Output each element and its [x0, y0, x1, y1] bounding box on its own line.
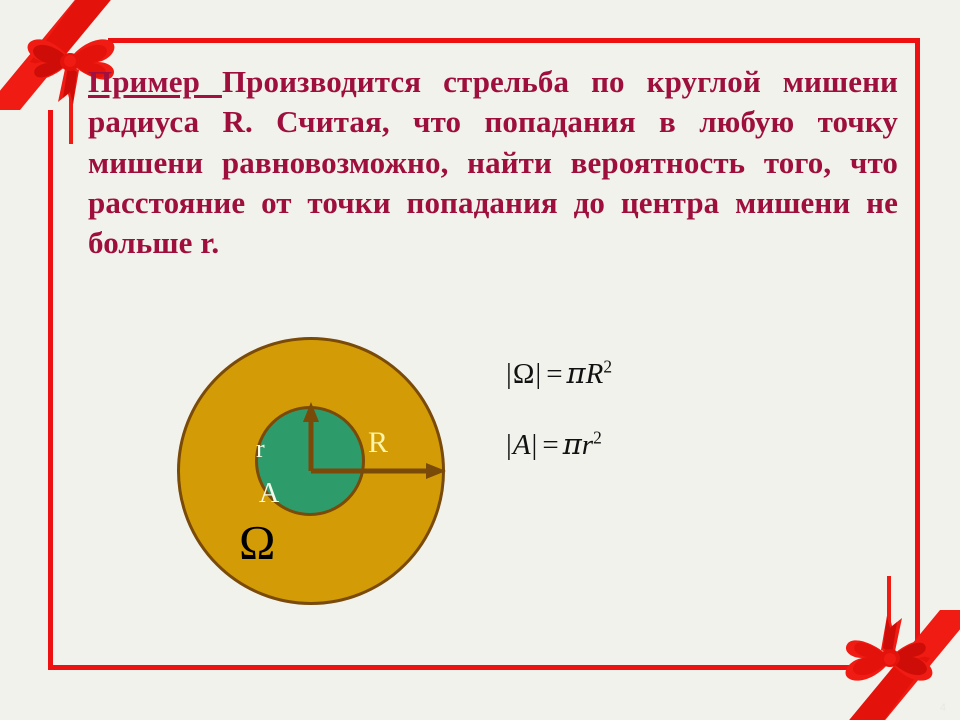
frame-border-left [48, 110, 53, 670]
frame-border-bottom [48, 665, 878, 670]
formula-exponent: 2 [593, 427, 602, 447]
equals-sign: = [546, 358, 562, 390]
formula-a-area: |A|=πr2 [505, 427, 612, 462]
frame-border-right [915, 38, 920, 670]
equals-sign: = [542, 429, 558, 461]
formula-block: |Ω|=πR2 |A|=πr2 [505, 356, 612, 498]
formula-exponent: 2 [603, 356, 612, 376]
slide-canvas: Пример Производится стрельба по круглой … [0, 0, 960, 720]
label-outer-region: Ω [239, 518, 275, 567]
frame-border-top [108, 38, 920, 43]
abs-bar-left: | [505, 358, 513, 390]
ribbon-bow-icon [816, 576, 960, 720]
problem-statement: Пример Производится стрельба по круглой … [88, 62, 898, 263]
abs-bar-right: | [531, 429, 539, 461]
pi-symbol: π [567, 356, 586, 390]
formula-a-symbol: A [513, 429, 531, 461]
abs-bar-left: | [505, 429, 513, 461]
formula-variable: R [586, 358, 604, 390]
page-number: 4 [940, 702, 946, 714]
formula-omega-area: |Ω|=πR2 [505, 356, 612, 391]
formula-omega-symbol: Ω [513, 358, 535, 390]
label-inner-region: A [259, 480, 279, 508]
problem-label: Пример [88, 64, 222, 99]
radius-arrows [168, 328, 458, 618]
label-outer-radius: R [368, 428, 388, 458]
pi-symbol: π [563, 427, 582, 461]
formula-variable: r [582, 429, 593, 461]
label-inner-radius: r [256, 436, 265, 462]
target-diagram: r R A Ω [168, 328, 458, 618]
abs-bar-right: | [534, 358, 542, 390]
